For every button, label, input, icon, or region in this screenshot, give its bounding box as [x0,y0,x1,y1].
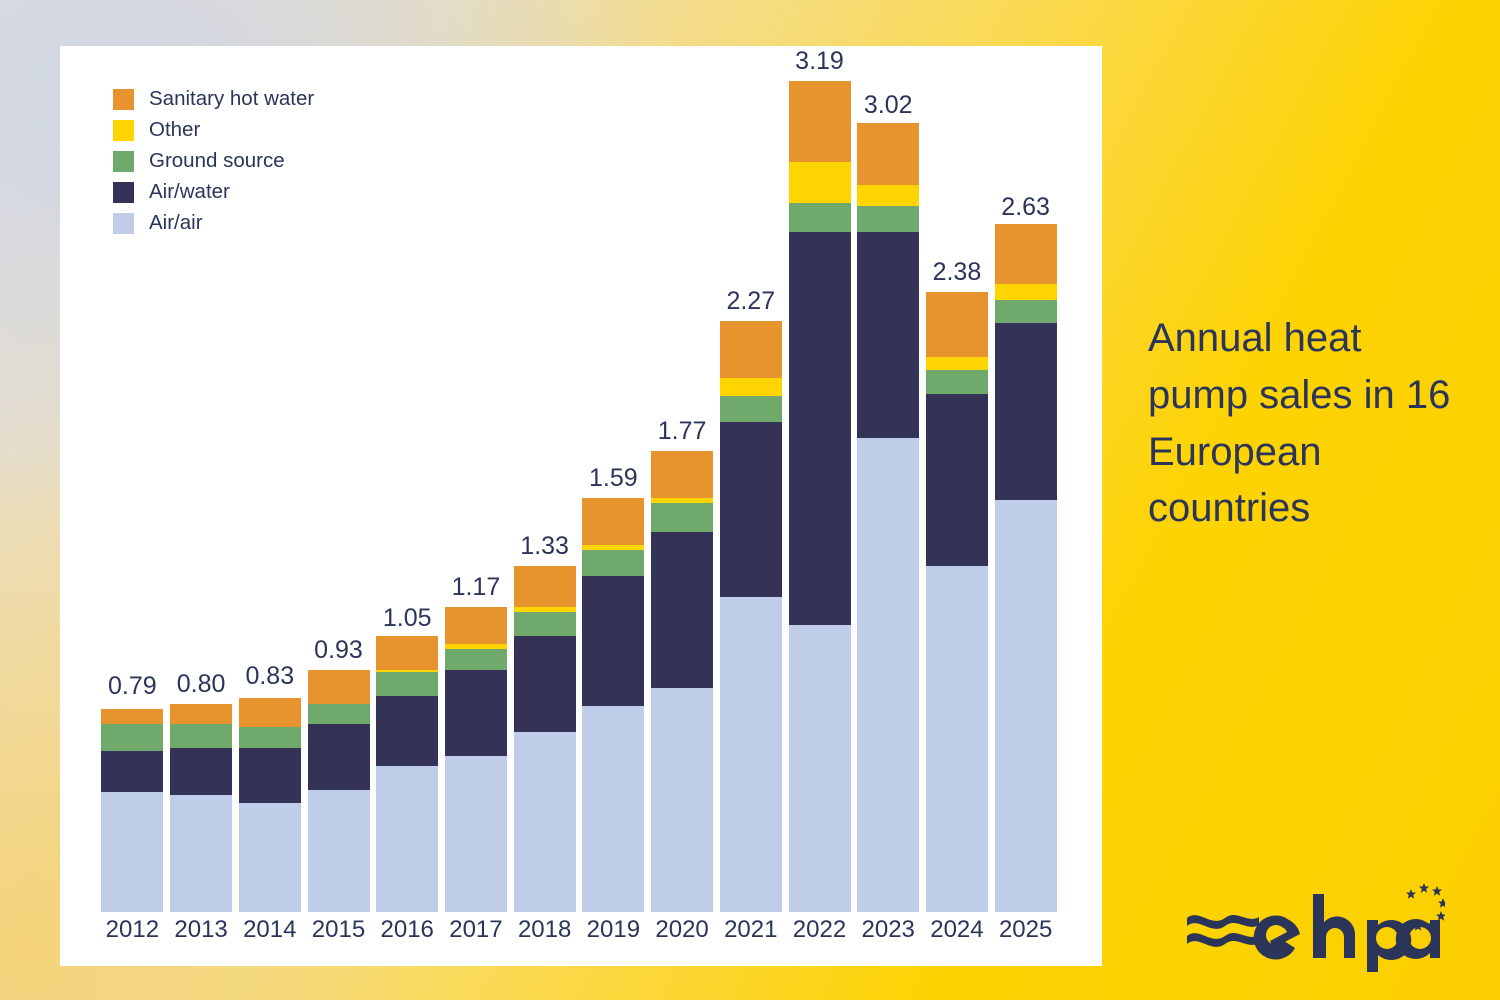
bar-segment-air_water[interactable] [170,748,232,795]
x-axis-tick-label: 2021 [724,918,777,942]
bar-segment-air_air[interactable] [376,766,438,912]
bar-segment-air_air[interactable] [239,803,301,912]
stacked-bar[interactable] [582,498,644,912]
x-axis-tick-label: 2017 [449,918,502,942]
x-axis-tick-label: 2012 [106,918,159,942]
bar-group-2012[interactable]: 0.792012 [101,706,163,912]
bar-segment-air_air[interactable] [101,792,163,912]
bar-segment-ground_source[interactable] [995,300,1057,323]
bar-segment-air_water[interactable] [308,724,370,789]
bar-segment-air_water[interactable] [445,670,507,756]
bar-segment-sanitary_hot_water[interactable] [514,566,576,608]
x-axis-tick-label: 2025 [999,918,1052,942]
bar-value-label: 3.19 [795,49,844,74]
bar-group-2024[interactable]: 2.382024 [926,292,988,912]
bar-segment-ground_source[interactable] [101,724,163,750]
bar-segment-air_water[interactable] [789,232,851,625]
x-axis-tick-label: 2013 [174,918,227,942]
bar-segment-ground_source[interactable] [926,370,988,393]
ehpa-logo [1185,880,1445,977]
page-title: Annual heat pump sales in 16 European co… [1148,310,1468,537]
bar-segment-air_water[interactable] [239,748,301,803]
bar-group-2018[interactable]: 1.332018 [514,566,576,912]
bar-group-2013[interactable]: 0.802013 [170,704,232,912]
x-axis-tick-label: 2023 [862,918,915,942]
bar-segment-ground_source[interactable] [239,727,301,748]
x-axis-tick-label: 2019 [587,918,640,942]
bar-segment-air_air[interactable] [170,795,232,912]
bar-value-label: 2.63 [1001,195,1050,220]
bar-group-2025[interactable]: 2.632025 [995,227,1057,912]
stacked-bar[interactable] [720,321,782,912]
bar-segment-air_air[interactable] [308,790,370,912]
bar-value-label: 0.80 [177,672,226,697]
chart-panel: Sanitary hot waterOtherGround sourceAir/… [60,46,1102,966]
stacked-bar[interactable] [376,638,438,912]
bar-segment-air_air[interactable] [651,688,713,912]
bar-group-2014[interactable]: 0.832014 [239,696,301,912]
bar-group-2020[interactable]: 1.772020 [651,451,713,912]
stacked-bar[interactable] [514,566,576,912]
bar-segment-sanitary_hot_water[interactable] [308,670,370,704]
bar-segment-sanitary_hot_water[interactable] [445,607,507,643]
bar-group-2023[interactable]: 3.022023 [857,125,919,912]
bar-group-2022[interactable]: 3.192022 [789,81,851,912]
x-axis-tick-label: 2014 [243,918,296,942]
bar-value-label: 1.05 [383,606,432,631]
bar-segment-air_air[interactable] [789,625,851,912]
bar-segment-air_water[interactable] [926,394,988,566]
bar-segment-air_air[interactable] [582,706,644,912]
bar-segment-other[interactable] [995,284,1057,300]
bar-segment-air_air[interactable] [514,732,576,912]
bar-segment-sanitary_hot_water[interactable] [582,498,644,545]
bar-segment-air_air[interactable] [445,756,507,912]
stacked-bar[interactable] [926,292,988,912]
bar-segment-sanitary_hot_water[interactable] [995,224,1057,284]
bar-segment-ground_source[interactable] [857,206,919,232]
bar-segment-other[interactable] [445,644,507,649]
bar-segment-other[interactable] [376,670,438,673]
bar-segment-other[interactable] [926,357,988,370]
x-axis-tick-label: 2022 [793,918,846,942]
bar-segment-ground_source[interactable] [170,724,232,747]
bar-segment-air_water[interactable] [720,422,782,597]
stacked-bar[interactable] [445,607,507,912]
bar-segment-sanitary_hot_water[interactable] [101,709,163,725]
bar-segment-other[interactable] [789,162,851,204]
bar-value-label: 2.27 [726,289,775,314]
bar-segment-air_air[interactable] [857,438,919,912]
bar-segment-other[interactable] [514,607,576,612]
bar-segment-air_water[interactable] [376,696,438,766]
bar-segment-ground_source[interactable] [308,704,370,725]
bar-segment-other[interactable] [582,545,644,550]
bar-segment-air_air[interactable] [720,597,782,912]
stacked-bar[interactable] [308,670,370,912]
x-axis-tick-label: 2016 [381,918,434,942]
x-axis-tick-label: 2018 [518,918,571,942]
bar-group-2016[interactable]: 1.052016 [376,638,438,912]
bar-segment-ground_source[interactable] [720,396,782,422]
stacked-bar[interactable] [789,81,851,912]
bar-segment-other[interactable] [651,498,713,503]
bar-segment-ground_source[interactable] [514,612,576,635]
bar-group-2015[interactable]: 0.932015 [308,670,370,912]
bar-segment-sanitary_hot_water[interactable] [926,292,988,357]
bar-value-label: 2.38 [933,260,982,285]
bar-segment-ground_source[interactable] [651,503,713,532]
bar-segment-other[interactable] [720,378,782,396]
bar-segment-other[interactable] [857,185,919,206]
bar-value-label: 0.93 [314,638,363,663]
bar-segment-sanitary_hot_water[interactable] [239,698,301,727]
bar-value-label: 1.17 [452,575,501,600]
bar-group-2019[interactable]: 1.592019 [582,498,644,912]
x-axis-tick-label: 2015 [312,918,365,942]
slide-canvas: Sanitary hot waterOtherGround sourceAir/… [0,0,1500,1000]
bar-segment-air_water[interactable] [101,751,163,793]
bar-segment-air_water[interactable] [857,232,919,438]
bar-segment-sanitary_hot_water[interactable] [789,81,851,162]
bar-segment-ground_source[interactable] [445,649,507,670]
bar-segment-sanitary_hot_water[interactable] [651,451,713,498]
x-axis-tick-label: 2024 [930,918,983,942]
bar-segment-sanitary_hot_water[interactable] [720,321,782,378]
bar-segment-air_water[interactable] [582,576,644,706]
bar-value-label: 3.02 [864,93,913,118]
bar-segment-ground_source[interactable] [582,550,644,576]
stacked-bar[interactable] [995,227,1057,912]
bar-segment-ground_source[interactable] [376,672,438,695]
bar-value-label: 0.79 [108,674,157,699]
bar-segment-air_air[interactable] [995,500,1057,912]
stacked-bar[interactable] [170,704,232,912]
stacked-bar[interactable] [857,125,919,912]
bar-segment-air_water[interactable] [514,636,576,732]
x-axis-tick-label: 2020 [655,918,708,942]
bar-segment-air_water[interactable] [651,532,713,688]
stacked-bar[interactable] [651,451,713,912]
bar-segment-sanitary_hot_water[interactable] [376,636,438,670]
stacked-bar[interactable] [239,696,301,912]
bar-value-label: 1.59 [589,466,638,491]
bar-value-label: 0.83 [245,664,294,689]
bar-value-label: 1.33 [520,534,569,559]
bar-group-2017[interactable]: 1.172017 [445,607,507,912]
bar-segment-sanitary_hot_water[interactable] [170,704,232,725]
bar-value-label: 1.77 [658,419,707,444]
bar-segment-air_water[interactable] [995,323,1057,500]
bar-chart-plot-area: 0.7920120.8020130.8320140.9320151.052016… [60,46,1102,966]
bar-segment-air_air[interactable] [926,566,988,912]
bar-segment-ground_source[interactable] [789,203,851,232]
bar-group-2021[interactable]: 2.272021 [720,321,782,912]
stacked-bar[interactable] [101,706,163,912]
bar-segment-sanitary_hot_water[interactable] [857,123,919,186]
